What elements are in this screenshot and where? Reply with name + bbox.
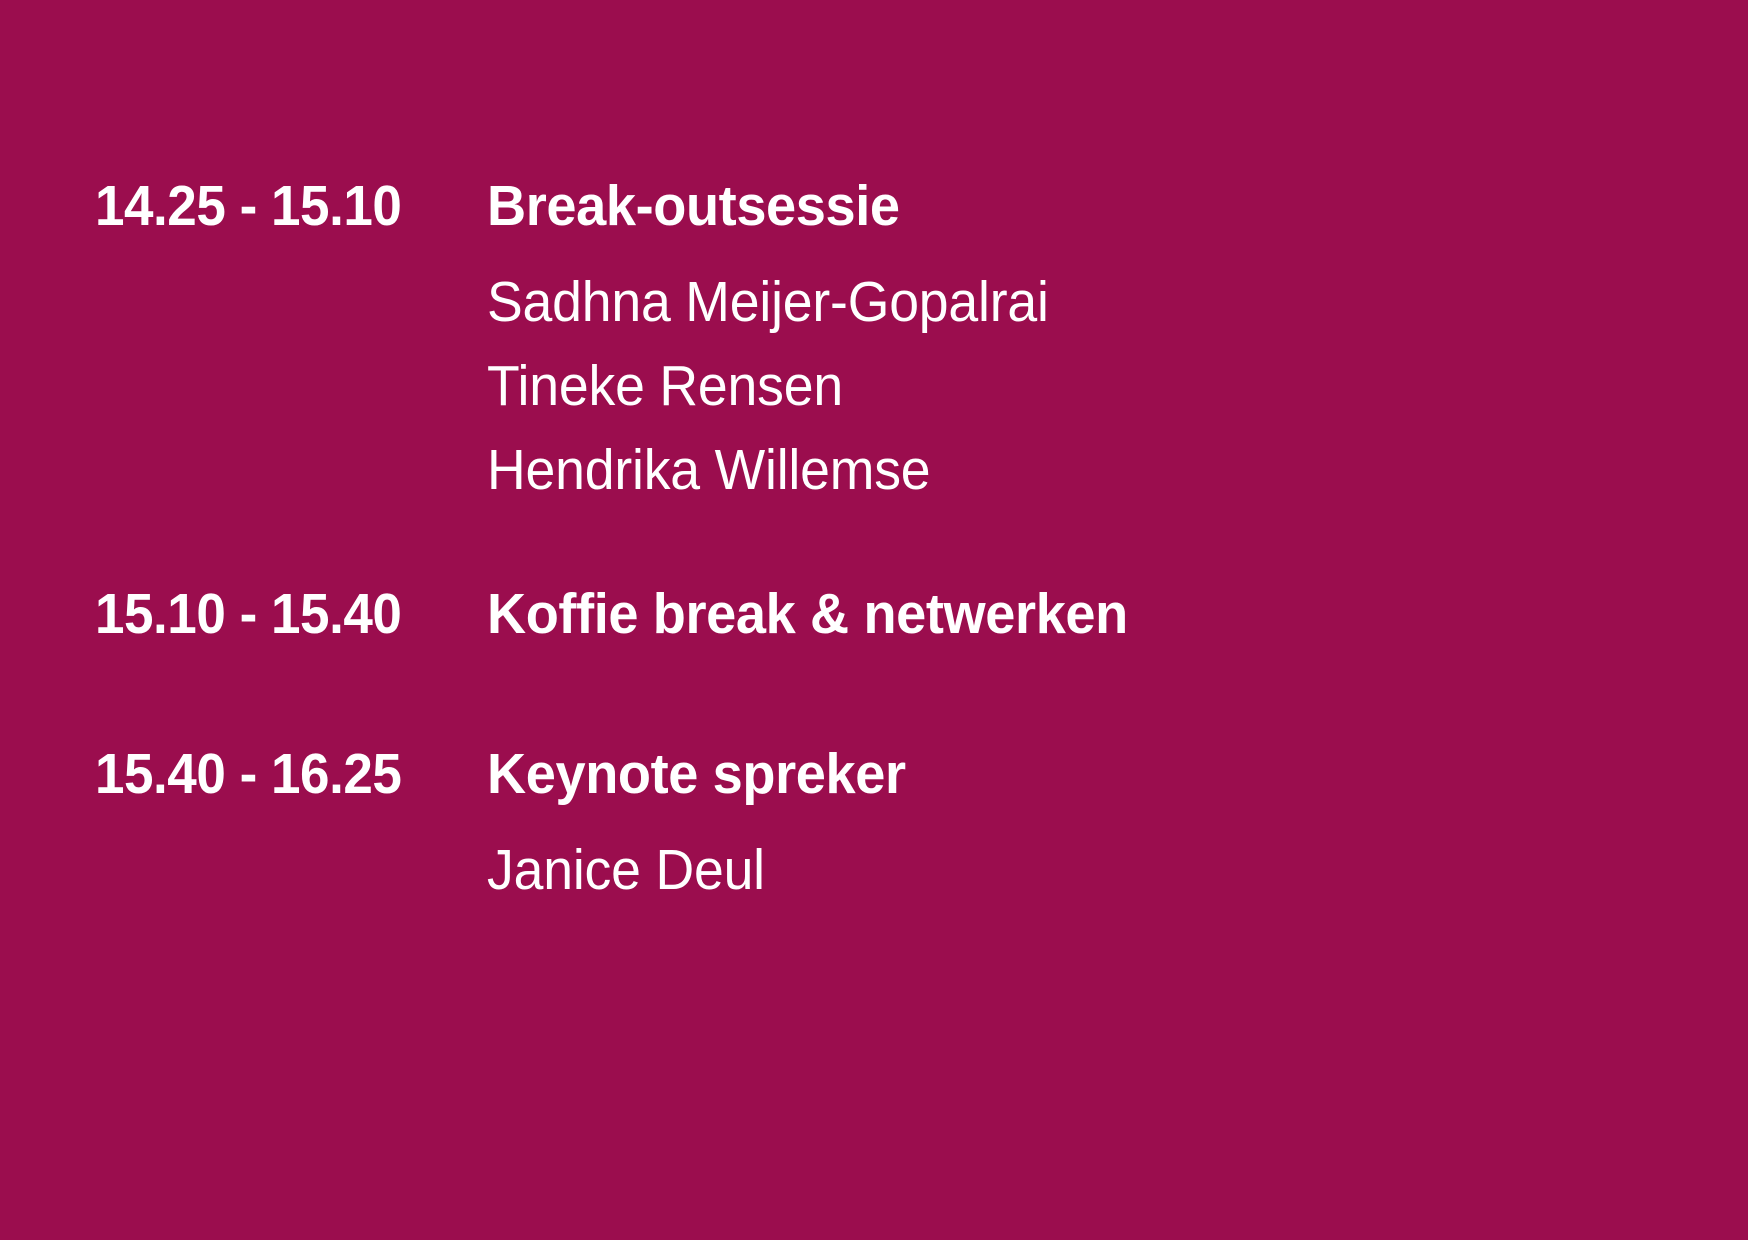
schedule-block-body: Koffie break & netwerken xyxy=(487,586,1162,643)
schedule-time-range: 14.25 - 15.10 xyxy=(95,178,460,235)
schedule-block-body: Break-outsessie Sadhna Meijer-Gopalrai T… xyxy=(487,178,1085,512)
speaker-name: Janice Deul xyxy=(487,829,901,913)
speaker-name: Sadhna Meijer-Gopalrai xyxy=(487,261,1049,345)
schedule-block: 15.10 - 15.40 Koffie break & netwerken xyxy=(95,586,1162,643)
schedule-time-range: 15.40 - 16.25 xyxy=(95,746,460,803)
speaker-name: Hendrika Willemse xyxy=(487,429,1049,513)
schedule-block-body: Keynote spreker Janice Deul xyxy=(487,746,928,913)
speaker-list: Janice Deul xyxy=(487,829,928,913)
speaker-name: Tineke Rensen xyxy=(487,345,1049,429)
schedule-time-range: 15.10 - 15.40 xyxy=(95,586,460,643)
schedule-slide: 14.25 - 15.10 Break-outsessie Sadhna Mei… xyxy=(0,0,1748,1240)
schedule-block: 15.40 - 16.25 Keynote spreker Janice Deu… xyxy=(95,746,928,913)
speaker-list: Sadhna Meijer-Gopalrai Tineke Rensen Hen… xyxy=(487,261,1085,512)
schedule-session-title: Break-outsessie xyxy=(487,178,1055,235)
schedule-block: 14.25 - 15.10 Break-outsessie Sadhna Mei… xyxy=(95,178,1085,512)
schedule-session-title: Koffie break & netwerken xyxy=(487,586,1128,643)
schedule-session-title: Keynote spreker xyxy=(487,746,906,803)
